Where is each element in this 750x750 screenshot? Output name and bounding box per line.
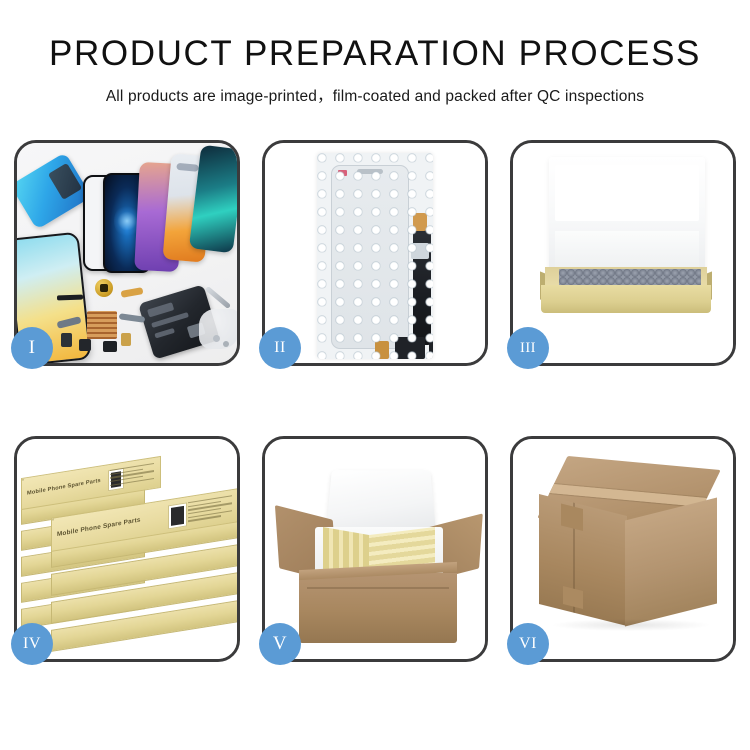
step-image-4: Mobile Phone Spare Parts Mobile Phone Sp… [17, 439, 237, 659]
step-image-6 [513, 439, 733, 659]
foam-lid-open-icon [326, 470, 436, 533]
step-badge-4: IV [11, 623, 53, 665]
carton-shadow [553, 619, 709, 631]
step-panel-1: I [14, 140, 240, 366]
small-part-2-icon [79, 339, 91, 351]
bubble-wrap-bag-icon [317, 153, 433, 359]
foam-body-icon [555, 231, 699, 271]
small-part-3-icon [103, 341, 117, 352]
carton-tab-bottom [563, 586, 583, 609]
box-label-screen-4 [22, 479, 24, 481]
carton-left-face [539, 494, 627, 626]
step-panel-5: V [262, 436, 488, 662]
box-label-screen-1 [168, 502, 187, 529]
step-panel-3: III [510, 140, 736, 366]
page-title: PRODUCT PREPARATION PROCESS [0, 36, 750, 73]
step-badge-1: I [11, 327, 53, 369]
step-image-3 [513, 143, 733, 363]
box-front-face [541, 285, 711, 313]
steps-grid: I II [14, 140, 736, 662]
step-image-2 [265, 143, 485, 363]
speaker-part-icon [95, 279, 113, 297]
box-stack: Mobile Phone Spare Parts Mobile Phone Sp… [21, 461, 237, 647]
screw-2-icon [223, 341, 229, 347]
small-part-4-icon [121, 333, 131, 346]
step-badge-6: VI [507, 623, 549, 665]
bubble-texture [317, 153, 433, 359]
carton-body [299, 573, 457, 643]
box-label-spec-lines-back [110, 463, 154, 494]
step-badge-2: II [259, 327, 301, 369]
spare-part-strip-icon [57, 295, 83, 301]
step-panel-2: II [262, 140, 488, 366]
step-panel-6: VI [510, 436, 736, 662]
page-subtitle: All products are image-printed，film-coat… [0, 84, 750, 106]
box-label-screen-2 [52, 518, 54, 520]
small-part-1-icon [61, 333, 72, 347]
step-image-1 [17, 143, 237, 363]
box-label-spec-lines [188, 495, 232, 526]
flex-cable-a-icon [121, 287, 144, 298]
product-preparation-infographic: PRODUCT PREPARATION PROCESS All products… [0, 0, 750, 750]
step-badge-3: III [507, 327, 549, 369]
carton-right-face [625, 498, 717, 627]
open-carton-icon [281, 465, 475, 635]
kraft-box-open-icon [541, 267, 711, 313]
box-label-text-back: Mobile Phone Spare Parts [27, 478, 101, 497]
contact-grid-icon [87, 311, 117, 339]
step-image-5 [265, 439, 485, 659]
screw-1-icon [213, 335, 220, 342]
blue-screen-assembly-icon [17, 152, 92, 230]
step-badge-5: V [259, 623, 301, 665]
sealed-carton-icon [535, 463, 723, 635]
hand-icon [199, 309, 237, 349]
box-label-text-front: Mobile Phone Spare Parts [57, 516, 141, 538]
header: PRODUCT PREPARATION PROCESS All products… [0, 0, 750, 106]
carton-tab-top [561, 504, 583, 531]
step-panel-4: Mobile Phone Spare Parts Mobile Phone Sp… [14, 436, 240, 662]
